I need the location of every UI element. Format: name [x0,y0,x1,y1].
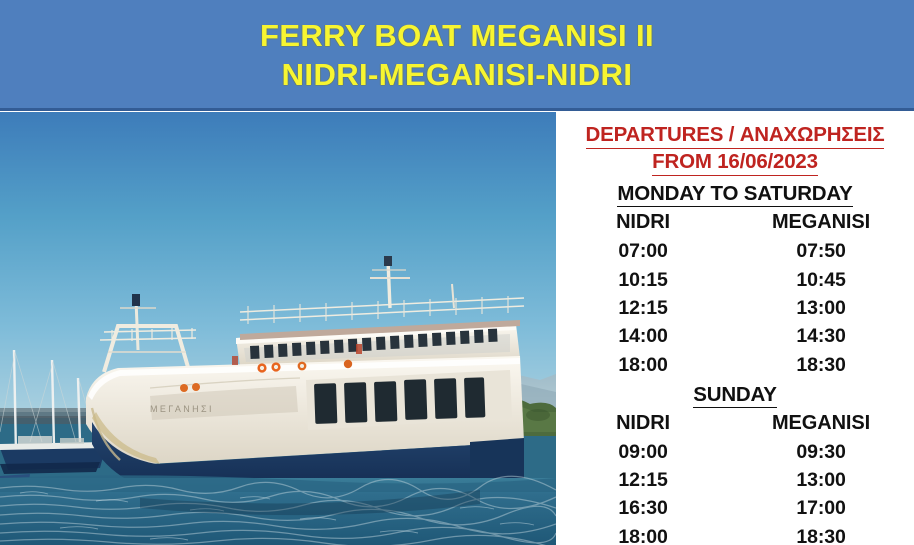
poster-title-line-1: FERRY BOAT MEGANISI II [260,18,654,55]
departure-time-meganisi: 07:50 [728,237,908,265]
column-header-nidri: NIDRI [562,409,728,438]
section-header-weekday-label: MONDAY TO SATURDAY [617,182,852,207]
departure-time-nidri: 12:15 [562,294,728,322]
departure-time-nidri: 09:00 [562,438,728,466]
table-header-row: NIDRI MEGANISI [562,409,908,438]
table-row: 07:00 07:50 [562,237,908,265]
departure-time-nidri: 12:15 [562,466,728,494]
ferry-photo-illustration: ΜΕΓΑΝΗΣΙ [0,112,556,545]
departure-time-nidri: 16:30 [562,494,728,522]
column-header-meganisi: MEGANISI [728,208,908,237]
departure-time-nidri: 10:15 [562,266,728,294]
departure-time-meganisi: 18:30 [728,523,908,545]
table-row: 10:15 10:45 [562,266,908,294]
section-header-sunday: SUNDAY [562,383,908,408]
schedule-heading: DEPARTURES / ΑΝΑΧΩΡΗΣΕΙΣ [562,122,908,149]
column-header-meganisi: MEGANISI [728,409,908,438]
table-row: 12:15 13:00 [562,294,908,322]
table-row: 12:15 13:00 [562,466,908,494]
column-header-nidri: NIDRI [562,208,728,237]
section-header-sunday-label: SUNDAY [693,383,776,408]
table-row: 18:00 18:30 [562,351,908,379]
departure-time-nidri: 14:00 [562,322,728,350]
ferry-photograph: ΜΕΓΑΝΗΣΙ [0,112,556,545]
table-row: 18:00 18:30 [562,523,908,545]
departure-time-meganisi: 09:30 [728,438,908,466]
weekday-timetable: NIDRI MEGANISI 07:00 07:50 10:15 10:45 1… [562,208,908,378]
schedule-heading-line-2: FROM 16/06/2023 [652,149,818,176]
table-row: 16:30 17:00 [562,494,908,522]
table-header-row: NIDRI MEGANISI [562,208,908,237]
departure-time-meganisi: 10:45 [728,266,908,294]
departures-schedule-panel: DEPARTURES / ΑΝΑΧΩΡΗΣΕΙΣ FROM 16/06/2023… [556,112,914,545]
departure-time-meganisi: 13:00 [728,294,908,322]
departure-time-meganisi: 13:00 [728,466,908,494]
schedule-heading-line-1: DEPARTURES / ΑΝΑΧΩΡΗΣΕΙΣ [586,122,885,149]
ferry-timetable-poster: FERRY BOAT MEGANISI II NIDRI-MEGANISI-NI… [0,0,914,545]
sunday-timetable: NIDRI MEGANISI 09:00 09:30 12:15 13:00 1… [562,409,908,545]
departure-time-meganisi: 18:30 [728,351,908,379]
departure-time-meganisi: 14:30 [728,322,908,350]
schedule-heading-2: FROM 16/06/2023 [562,149,908,176]
departure-time-meganisi: 17:00 [728,494,908,522]
poster-title-line-2: NIDRI-MEGANISI-NIDRI [282,57,633,94]
departure-time-nidri: 18:00 [562,351,728,379]
table-row: 14:00 14:30 [562,322,908,350]
table-row: 09:00 09:30 [562,438,908,466]
section-header-weekday: MONDAY TO SATURDAY [562,182,908,207]
ferry-hull-name: ΜΕΓΑΝΗΣΙ [150,404,214,414]
departure-time-nidri: 07:00 [562,237,728,265]
poster-header-banner: FERRY BOAT MEGANISI II NIDRI-MEGANISI-NI… [0,0,914,111]
departure-time-nidri: 18:00 [562,523,728,545]
